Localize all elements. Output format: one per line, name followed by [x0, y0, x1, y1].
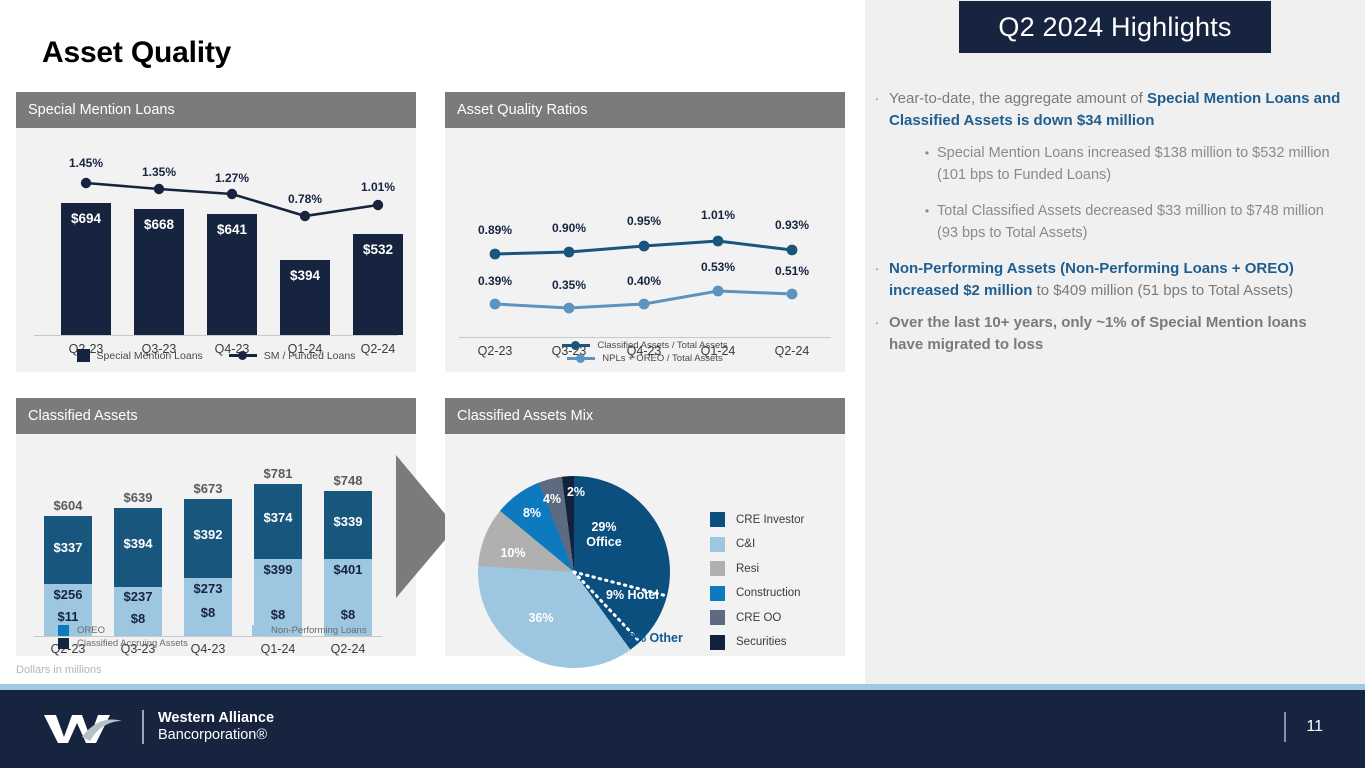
- stack-segment-classified-accruing-q1-24: $374: [254, 484, 302, 559]
- chart-classified-assets: $604 $337 $256 $11 $639 $394 $237 $8: [16, 434, 416, 656]
- wa-monogram-icon: [42, 707, 128, 747]
- point-label: 0.35%: [539, 278, 599, 292]
- bullet-text: Non-Performing Assets (Non-Performing Lo…: [889, 258, 1341, 302]
- highlights-bullet-list: · Year-to-date, the aggregate amount of …: [865, 88, 1365, 366]
- page-number-container: 11: [1284, 712, 1323, 742]
- legend-label: OREO: [77, 625, 252, 636]
- stack-total-label: $639: [108, 490, 168, 505]
- chart-classified-assets-mix: 29% Office 9% Hotel 2% Other 36% 10% 8% …: [445, 434, 845, 656]
- legend-label: Classified Assets / Total Assets: [597, 340, 727, 351]
- legend-swatch-icon: [710, 586, 725, 601]
- segment-value: $256: [44, 587, 92, 602]
- stack-total-label: $673: [178, 481, 238, 496]
- panel-title: Classified Assets: [28, 408, 138, 424]
- legend-swatch-icon: [710, 512, 725, 527]
- point-label: 0.51%: [762, 264, 822, 278]
- stack-segment-classified-accruing-q3-23: $394: [114, 508, 162, 587]
- bullet-item: · Year-to-date, the aggregate amount of …: [865, 88, 1365, 132]
- legend-label: C&I: [736, 538, 755, 550]
- bullet-marker: ·: [865, 258, 889, 302]
- brand-logo-text: Western Alliance Bancorporation®: [158, 710, 274, 744]
- segment-value: $273: [184, 581, 232, 596]
- bullet-text: Special Mention Loans increased $138 mil…: [937, 142, 1341, 186]
- legend-item-special-mention-loans: Special Mention Loans: [77, 349, 203, 362]
- left-content-area: Asset Quality Special Mention Loans $694…: [0, 0, 865, 690]
- legend-swatch-icon: [710, 635, 725, 650]
- legend-item-sm-funded-loans: SM / Funded Loans: [229, 350, 356, 362]
- stack-total-label: $604: [38, 498, 98, 513]
- legend-swatch-icon: [252, 625, 263, 636]
- legend-classified-assets-mix: CRE Investor C&I Resi Construction: [710, 512, 804, 650]
- bullet-marker: •: [917, 200, 937, 244]
- legend-item-npls-oreo-total-assets: NPLs + OREO / Total Assets: [567, 353, 722, 364]
- highlights-panel: Q2 2024 Highlights · Year-to-date, the a…: [865, 0, 1365, 690]
- legend-label: CRE Investor: [736, 514, 804, 526]
- point-label: 1.27%: [202, 171, 262, 185]
- panel-classified-assets-mix: Classified Assets Mix 29% Office: [445, 398, 845, 656]
- legend-label: Special Mention Loans: [97, 350, 203, 362]
- legend-swatch-icon: [710, 610, 725, 625]
- legend-label: Classified Accruing Assets: [77, 638, 188, 649]
- bullet-segment: to $409 million (51 bps to Total Assets): [1032, 282, 1293, 299]
- legend-item-resi: Resi: [710, 561, 804, 576]
- pie-slice-label-construction: 8%: [514, 506, 550, 520]
- stack-segment-classified-accruing-q2-23: $337: [44, 516, 92, 584]
- brand-name-line1: Western Alliance: [158, 710, 274, 727]
- legend-label: Construction: [736, 587, 801, 599]
- panel-header-classified-assets-mix: Classified Assets Mix: [445, 398, 845, 434]
- legend-swatch-icon: [710, 537, 725, 552]
- point-label: 0.40%: [614, 274, 674, 288]
- legend-line-marker-icon: [567, 357, 595, 360]
- segment-value: $392: [184, 527, 232, 542]
- panel-classified-assets: Classified Assets $604 $337 $256 $11 $63…: [16, 398, 416, 656]
- point-label: 1.45%: [56, 156, 116, 170]
- segment-value: $8: [254, 607, 302, 622]
- bullet-marker: •: [917, 142, 937, 186]
- point-label: 1.35%: [129, 165, 189, 179]
- legend-item-classified-accruing-assets: Classified Accruing Assets: [58, 637, 388, 650]
- segment-value: $11: [44, 609, 92, 624]
- pie-label-pct: 29%: [591, 520, 616, 534]
- bullet-marker: ·: [865, 88, 889, 132]
- legend-swatch-icon: [58, 625, 69, 636]
- legend-swatch-icon: [77, 349, 90, 362]
- point-label: 1.01%: [348, 180, 408, 194]
- pie-slice-label-hotel: 9% Hotel: [606, 588, 692, 602]
- brand-name-line2: Bancorporation®: [158, 727, 274, 744]
- stack-total-label: $781: [248, 466, 308, 481]
- segment-value: $8: [324, 607, 372, 622]
- point-label: 0.39%: [465, 274, 525, 288]
- panel-title: Classified Assets Mix: [457, 408, 593, 424]
- pie-slice-label-office: 29% Office: [574, 520, 634, 550]
- brand-logo: Western Alliance Bancorporation®: [42, 707, 274, 747]
- stack-segment-classified-accruing-q4-23: $392: [184, 499, 232, 578]
- point-label: 0.53%: [688, 260, 748, 274]
- point-label: 0.89%: [465, 223, 525, 237]
- panel-special-mention-loans: Special Mention Loans $694 $668 $641 $39…: [16, 92, 416, 372]
- point-label: 0.93%: [762, 218, 822, 232]
- bullet-segment: Year-to-date, the aggregate amount of: [889, 90, 1147, 107]
- segment-value: $394: [114, 536, 162, 551]
- legend-label: NPLs + OREO / Total Assets: [602, 353, 722, 364]
- legend-item-oreo: OREO Non-Performing Loans: [58, 624, 388, 637]
- page-number-divider: [1284, 712, 1286, 742]
- chart-special-mention-loans: $694 $668 $641 $394 $532: [16, 128, 416, 372]
- bullet-text: Year-to-date, the aggregate amount of Sp…: [889, 88, 1341, 132]
- bullet-text: Over the last 10+ years, only ~1% of Spe…: [889, 312, 1341, 356]
- point-label: 0.95%: [614, 214, 674, 228]
- legend-special-mention-loans: Special Mention Loans SM / Funded Loans: [16, 349, 416, 362]
- legend-label: Securities: [736, 636, 787, 648]
- panel-header-special-mention-loans: Special Mention Loans: [16, 92, 416, 128]
- segment-value: $237: [114, 589, 162, 604]
- panel-title: Special Mention Loans: [28, 102, 175, 118]
- page-number: 11: [1306, 718, 1323, 736]
- legend-item-ci: C&I: [710, 537, 804, 552]
- legend-item-securities: Securities: [710, 635, 804, 650]
- legend-line-marker-icon: [229, 354, 257, 357]
- legend-item-construction: Construction: [710, 586, 804, 601]
- legend-swatch-icon: [58, 638, 69, 649]
- x-axis-line: [34, 335, 398, 336]
- highlights-banner: Q2 2024 Highlights: [959, 1, 1271, 53]
- legend-label: SM / Funded Loans: [264, 350, 356, 362]
- legend-line-marker-icon: [562, 344, 590, 347]
- pie-slice-label-resi: 10%: [490, 546, 536, 560]
- point-label: 0.90%: [539, 221, 599, 235]
- legend-swatch-icon: [710, 561, 725, 576]
- bullet-text: Total Classified Assets decreased $33 mi…: [937, 200, 1341, 244]
- segment-value: $399: [254, 562, 302, 577]
- segment-value: $337: [44, 540, 92, 555]
- x-axis-line: [459, 337, 831, 338]
- page-title: Asset Quality: [42, 36, 231, 70]
- asset-quality-ratios-lines: [445, 128, 845, 372]
- pie-slice-label-securities: 2%: [560, 485, 592, 499]
- panel-header-asset-quality-ratios: Asset Quality Ratios: [445, 92, 845, 128]
- segment-value: $401: [324, 562, 372, 577]
- segment-value: $339: [324, 514, 372, 529]
- slide-root: Asset Quality Special Mention Loans $694…: [0, 0, 1365, 768]
- legend-label: Resi: [736, 563, 759, 575]
- segment-value: $8: [184, 605, 232, 620]
- pie-chart: 29% Office 9% Hotel 2% Other 36% 10% 8% …: [478, 476, 670, 668]
- panel-title: Asset Quality Ratios: [457, 102, 588, 118]
- legend-classified-assets: OREO Non-Performing Loans Classified Acc…: [58, 624, 388, 650]
- point-label: 1.01%: [688, 208, 748, 222]
- stack-segment-classified-accruing-q2-24: $339: [324, 491, 372, 559]
- legend-label: Non-Performing Loans: [271, 625, 367, 636]
- legend-asset-quality-ratios: Classified Assets / Total Assets NPLs + …: [445, 340, 845, 364]
- bullet-marker: ·: [865, 312, 889, 356]
- segment-value: $374: [254, 510, 302, 525]
- legend-item-classified-assets-total-assets: Classified Assets / Total Assets: [562, 340, 727, 351]
- bullet-item: · Non-Performing Assets (Non-Performing …: [865, 258, 1365, 302]
- panel-asset-quality-ratios: Asset Quality Ratios 0.89: [445, 92, 845, 372]
- highlights-banner-title: Q2 2024 Highlights: [998, 12, 1231, 43]
- point-label: 0.78%: [275, 192, 335, 206]
- bullet-item-sub: • Special Mention Loans increased $138 m…: [865, 142, 1365, 186]
- panel-header-classified-assets: Classified Assets: [16, 398, 416, 434]
- pie-label-name: Office: [586, 535, 621, 549]
- pie-slice-label-other: 2% Other: [628, 631, 718, 645]
- legend-item-cre-investor: CRE Investor: [710, 512, 804, 527]
- bullet-item: · Over the last 10+ years, only ~1% of S…: [865, 312, 1365, 356]
- bullet-item-sub: • Total Classified Assets decreased $33 …: [865, 200, 1365, 244]
- chart-asset-quality-ratios: 0.89% 0.90% 0.95% 1.01% 0.93% 0.39% 0.35…: [445, 128, 845, 372]
- footnote: Dollars in millions: [16, 664, 102, 676]
- stack-total-label: $748: [318, 473, 378, 488]
- legend-label: CRE OO: [736, 612, 781, 624]
- pie-slice-label-ci: 36%: [518, 611, 564, 625]
- legend-item-cre-oo: CRE OO: [710, 610, 804, 625]
